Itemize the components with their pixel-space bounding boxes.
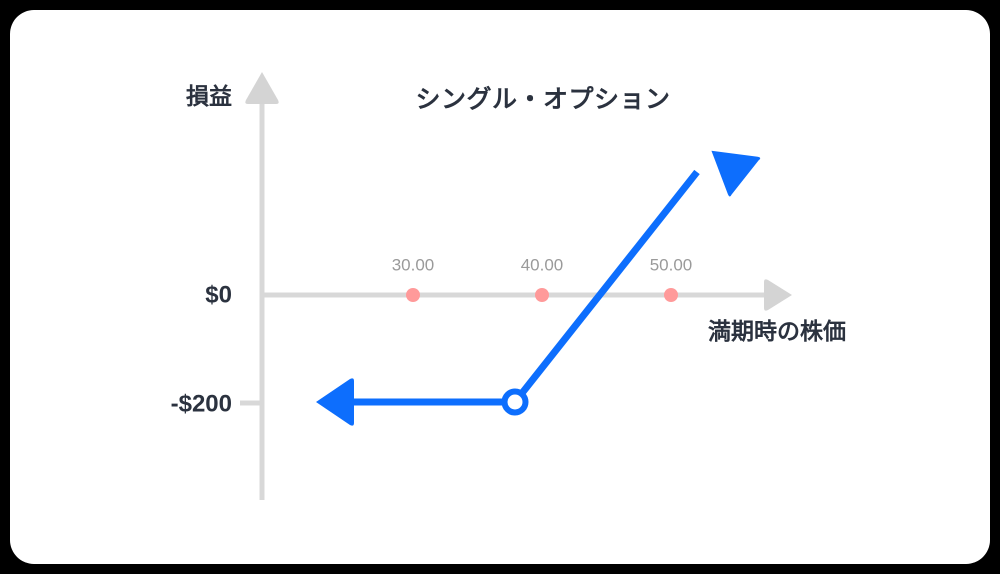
axes-group: [240, 72, 792, 500]
payoff-chart: 30.00 40.00 50.00 $0 -$200 シングル・オプション 損益…: [10, 10, 990, 564]
arrow-up-right-icon: [696, 131, 760, 196]
x-tick-labels-group: 30.00 40.00 50.00: [392, 255, 693, 274]
x-axis-label: 満期時の株価: [708, 318, 846, 344]
x-tick-dot-50: [664, 288, 678, 302]
x-tick-label-50: 50.00: [650, 255, 693, 274]
arrow-right-icon: [764, 279, 792, 310]
y-tick-label-minus200: -$200: [171, 390, 232, 417]
x-tick-dot-30: [406, 288, 420, 302]
payoff-rising-segment: [515, 172, 697, 402]
x-tick-label-40: 40.00: [521, 255, 564, 274]
y-tick-labels-group: $0 -$200: [171, 281, 232, 417]
arrow-up-icon: [245, 72, 278, 104]
payoff-series-group: [316, 131, 761, 425]
chart-title: シングル・オプション: [415, 86, 670, 114]
y-axis-label: 損益: [186, 83, 232, 109]
x-tick-dot-40: [535, 288, 549, 302]
x-tick-label-30: 30.00: [392, 255, 435, 274]
chart-card: 30.00 40.00 50.00 $0 -$200 シングル・オプション 損益…: [10, 10, 990, 564]
y-tick-label-zero: $0: [205, 281, 232, 308]
circle-open-icon: [505, 392, 526, 413]
arrow-left-icon: [316, 378, 354, 425]
